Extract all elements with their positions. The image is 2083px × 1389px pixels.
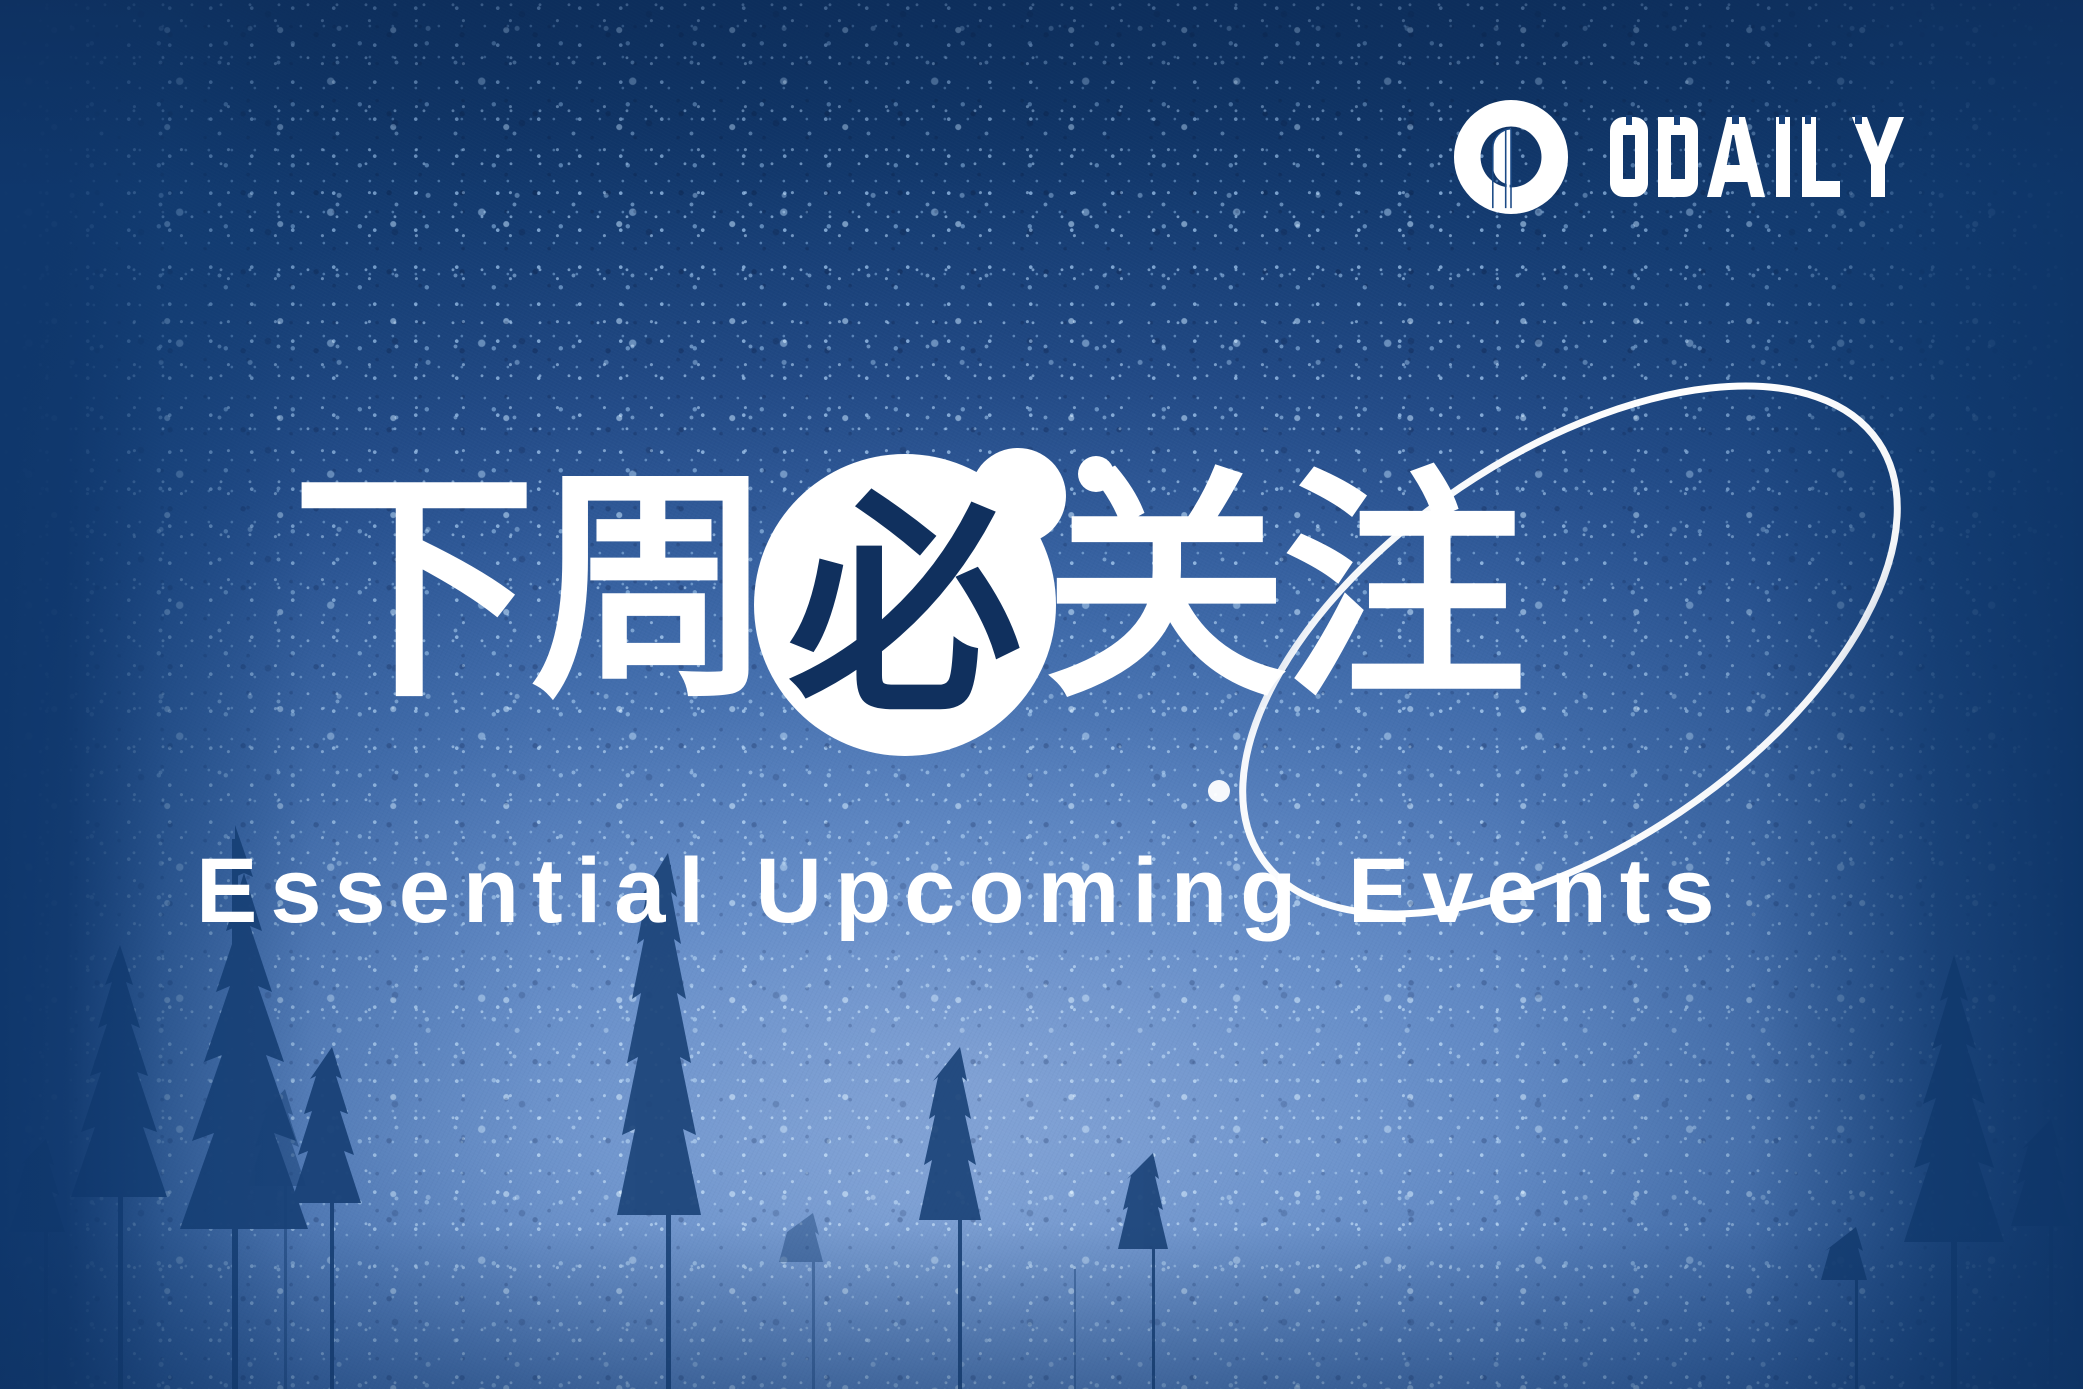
title-char-zhu: 注 xyxy=(1282,470,1520,709)
odaily-ring-logo-icon[interactable] xyxy=(1452,98,1570,216)
title-char-bi-badge: 必 xyxy=(754,454,1056,756)
title-char-zhou: 周 xyxy=(530,470,768,709)
hero-banner: 下 周 必 关 注 Essential Upcoming Events xyxy=(0,0,2083,1389)
title-char-xia: 下 xyxy=(292,470,530,709)
satellite-dot-icon xyxy=(1078,456,1114,492)
satellite-dot-icon xyxy=(1208,780,1230,802)
title-char-bi: 必 xyxy=(788,492,1022,726)
hero-title-chars: 下 周 必 关 注 xyxy=(292,470,1520,756)
title-char-guan: 关 xyxy=(1044,470,1282,709)
hero-title: 下 周 必 关 注 xyxy=(0,470,2083,800)
brand-wordmark[interactable] xyxy=(1604,115,2004,199)
brand-lockup[interactable] xyxy=(1452,98,2004,216)
hero-subtitle: Essential Upcoming Events xyxy=(196,845,1728,937)
